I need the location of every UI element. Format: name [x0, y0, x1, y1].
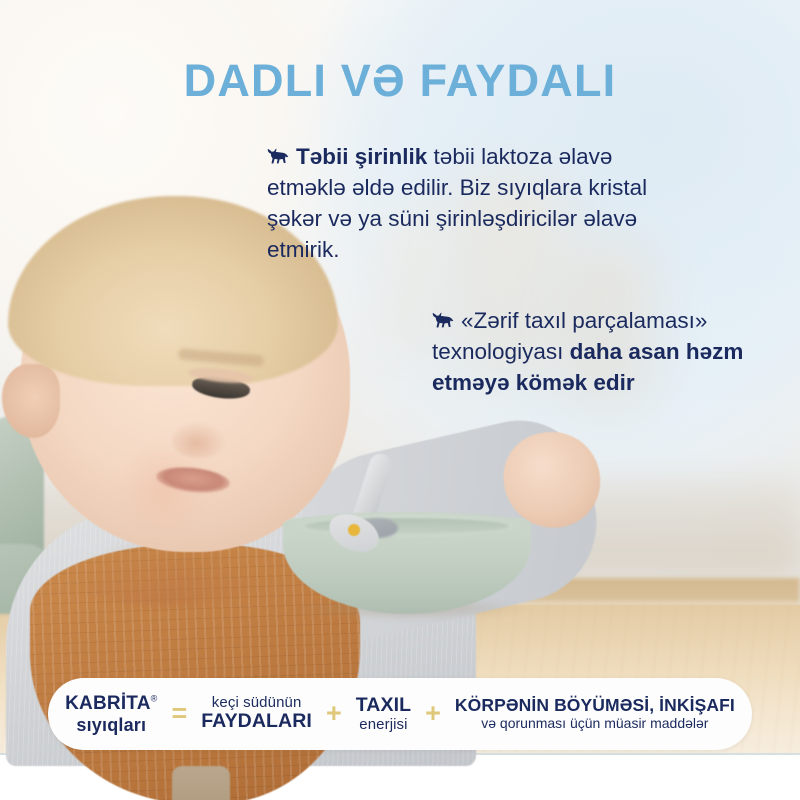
- benefit-block-natural-sweetness: Təbii şirinlik təbii laktoza əlavə etmək…: [267, 141, 697, 265]
- high-chair-strap: [172, 766, 230, 800]
- benefit-block-gentle-grain: «Zərif taxıl parçalaması» texnologiyası …: [432, 305, 777, 398]
- formula-item-goat-milk: keçi südünün FAYDALARI: [201, 695, 312, 734]
- goat-icon: [432, 306, 454, 323]
- goat-icon: [267, 142, 289, 159]
- formula-row: KABRİTA® sıyıqları = keçi südünün FAYDAL…: [51, 693, 749, 734]
- growth-line1: KÖRPƏNİN BÖYÜMƏSİ, İNKİŞAFI: [455, 696, 735, 716]
- baby-nose: [172, 422, 226, 458]
- page-title: DADLI VƏ FAYDALI: [0, 58, 800, 103]
- trademark-symbol: ®: [151, 694, 158, 704]
- baby-ear: [2, 364, 60, 438]
- growth-line2: və qorunması üçün müasir maddələr: [455, 716, 735, 732]
- kabrita-sublabel: sıyıqları: [65, 715, 157, 735]
- formula-item-kabrita: KABRİTA® sıyıqları: [65, 693, 157, 734]
- grain-line2: enerjisi: [356, 717, 411, 734]
- formula-item-growth: KÖRPƏNİN BÖYÜMƏSİ, İNKİŞAFI və qorunması…: [455, 696, 735, 731]
- food-piece: [348, 524, 360, 536]
- poster: DADLI VƏ FAYDALI Təbii şirinlik təbii la…: [0, 0, 800, 800]
- formula-operator-plus-2: +: [425, 700, 441, 727]
- formula-item-grain-energy: TAXIL enerjisi: [356, 695, 411, 734]
- formula-banner: KABRİTA® sıyıqları = keçi südünün FAYDAL…: [48, 678, 752, 750]
- formula-operator-plus-1: +: [326, 700, 342, 727]
- goat-milk-line1: keçi südünün: [201, 695, 312, 712]
- goat-milk-line2: FAYDALARI: [201, 711, 312, 733]
- grain-line1: TAXIL: [356, 695, 411, 717]
- benefit-1-bold-lead: Təbii şirinlik: [296, 144, 427, 169]
- kabrita-label: KABRİTA: [65, 693, 150, 714]
- formula-operator-equals: =: [171, 700, 187, 727]
